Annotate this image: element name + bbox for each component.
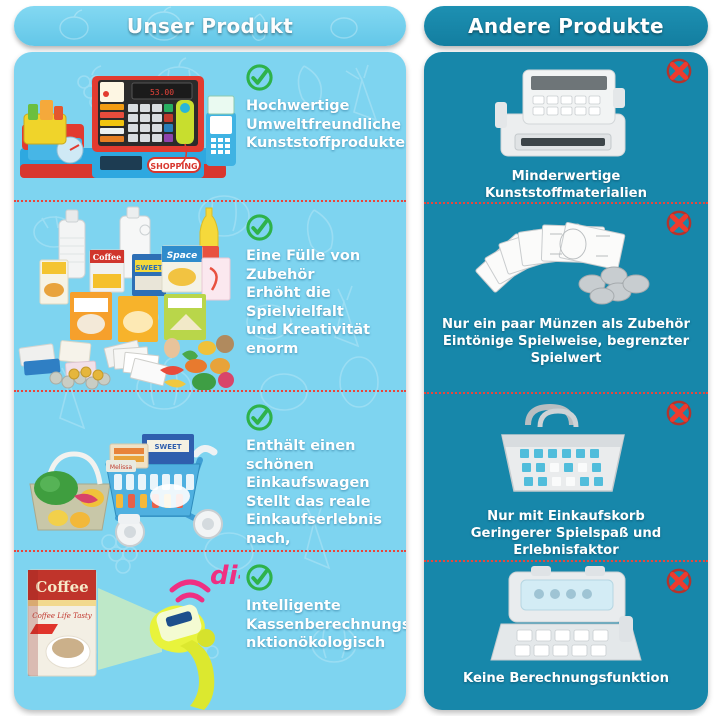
list-item: Minderwertige Kunststoffmaterialien [424,52,708,202]
feature-text: Eine Fülle von Zubehör Erhöht die Spielv… [246,247,396,358]
product-image-shopping-cart: SWEET Melissa [14,392,240,550]
svg-text:Coffee: Coffee [93,252,121,262]
feature-body: Intelligente Kassenberechnungsfu nktionö… [240,552,406,659]
left-header-title: Unser Produkt [127,14,293,38]
our-product-panel: SHOPPING 53.00 [14,52,406,710]
green-check-icon [246,404,273,431]
list-item: SWEET Melissa [14,390,406,550]
product-image-accessories: Coffee SWEET Space [14,202,240,390]
red-cross-icon [666,210,692,236]
svg-text:Coffee: Coffee [35,578,88,596]
competitor-image-money-coins [424,204,708,312]
svg-text:Melissa: Melissa [110,464,132,471]
feature-body: Eine Fülle von Zubehör Erhöht die Spielv… [240,202,406,364]
svg-text:Space: Space [167,251,197,261]
feature-body: Enthält einen schönen Einkaufswagen Stel… [240,392,406,550]
competitor-image-basket [424,394,708,504]
comparison-infographic: Unser Produkt Andere Produkte [0,0,720,716]
drawback-text: Minderwertige Kunststoffmaterialien [424,164,708,202]
list-item: Nur ein paar Münzen als Zubehör Eintönig… [424,202,708,392]
feature-text: Hochwertige Umweltfreundliche Kunststoff… [246,97,405,153]
drawback-text: Keine Berechnungsfunktion [424,666,708,697]
feature-text: Intelligente Kassenberechnungsfu nktionö… [246,597,406,653]
drawback-text: Nur mit Einkaufskorb Geringerer Spielspa… [424,504,708,560]
green-check-icon [246,64,273,91]
svg-text:Coffee Life Tasty: Coffee Life Tasty [32,612,93,620]
product-image-cash-register: SHOPPING 53.00 [14,52,240,200]
red-cross-icon [666,568,692,594]
red-cross-icon [666,400,692,426]
right-column-header: Andere Produkte [424,6,708,46]
svg-text:di-: di- [210,561,240,591]
svg-text:53.00: 53.00 [150,88,174,97]
list-item: Keine Berechnungsfunktion [424,560,708,708]
green-check-icon [246,564,273,591]
left-column-header: Unser Produkt [14,6,406,46]
list-item: Nur mit Einkaufskorb Geringerer Spielspa… [424,392,708,560]
svg-text:SHOPPING: SHOPPING [150,162,197,171]
green-check-icon [246,214,273,241]
feature-body: Hochwertige Umweltfreundliche Kunststoff… [240,52,406,159]
red-cross-icon [666,58,692,84]
list-item: SHOPPING 53.00 [14,52,406,200]
competitor-image-white-register [424,52,708,164]
drawback-text: Nur ein paar Münzen als Zubehör Eintönig… [424,312,708,377]
feature-text: Enthält einen schönen Einkaufswagen Stel… [246,437,396,550]
right-header-title: Andere Produkte [468,14,664,38]
list-item: Coffee Coffee Life Tasty [14,550,406,710]
svg-text:SWEET: SWEET [135,264,162,272]
product-image-scanner: Coffee Coffee Life Tasty [14,552,240,710]
svg-text:SWEET: SWEET [154,443,181,451]
other-products-panel: Minderwertige Kunststoffmaterialien [424,52,708,710]
list-item: Coffee SWEET Space [14,200,406,390]
competitor-image-grey-register [424,562,708,666]
